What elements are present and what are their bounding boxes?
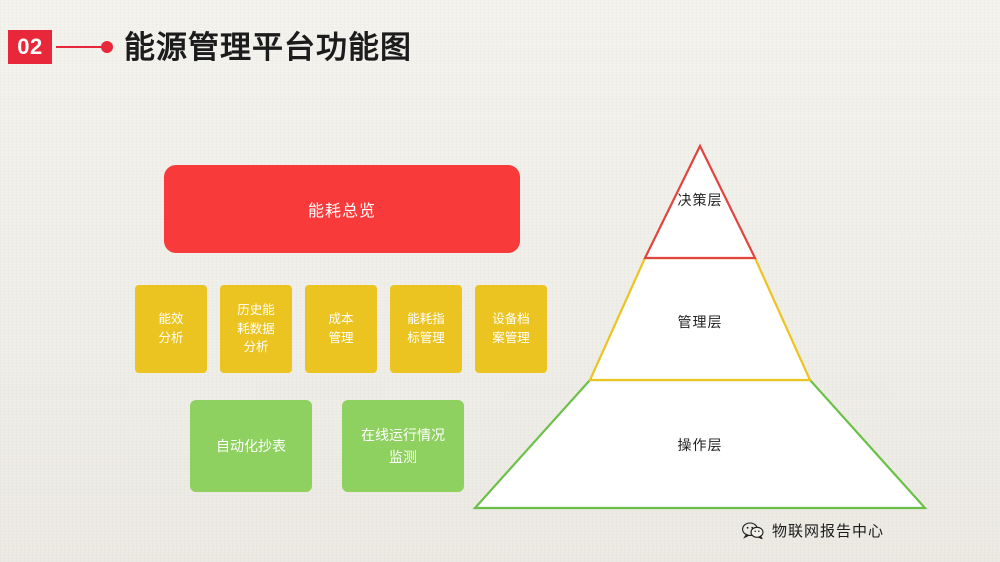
- page-title: 能源管理平台功能图: [124, 22, 412, 67]
- slide-header: 02 能源管理平台功能图: [0, 0, 1000, 92]
- pyramid-label-operation: 操作层: [620, 435, 780, 455]
- function-box-label: 能耗指标管理: [407, 310, 445, 348]
- header-rule: [56, 46, 104, 48]
- wechat-icon: [742, 522, 764, 540]
- header-dot-icon: [101, 41, 113, 53]
- function-box-online-monitoring[interactable]: 在线运行情况监测: [342, 400, 464, 492]
- function-box-consumption-index[interactable]: 能耗指标管理: [390, 285, 462, 373]
- pyramid-label-management: 管理层: [620, 312, 780, 332]
- function-box-label: 能效分析: [158, 310, 183, 348]
- function-box-label: 自动化抄表: [216, 435, 286, 457]
- section-number-badge: 02: [8, 30, 52, 64]
- function-box-cost-management[interactable]: 成本管理: [305, 285, 377, 373]
- watermark: 物联网报告中心: [742, 520, 884, 541]
- function-box-history-data[interactable]: 历史能耗数据分析: [220, 285, 292, 373]
- pyramid-diagram: 决策层 管理层 操作层: [465, 130, 935, 520]
- watermark-text: 物联网报告中心: [772, 520, 884, 541]
- function-box-label: 成本管理: [328, 310, 353, 348]
- function-box-label: 在线运行情况监测: [361, 424, 445, 469]
- function-box-label: 历史能耗数据分析: [237, 301, 275, 357]
- pyramid-label-decision: 决策层: [620, 190, 780, 210]
- function-box-auto-meter-reading[interactable]: 自动化抄表: [190, 400, 312, 492]
- overview-label: 能耗总览: [308, 197, 376, 221]
- function-box-energy-efficiency[interactable]: 能效分析: [135, 285, 207, 373]
